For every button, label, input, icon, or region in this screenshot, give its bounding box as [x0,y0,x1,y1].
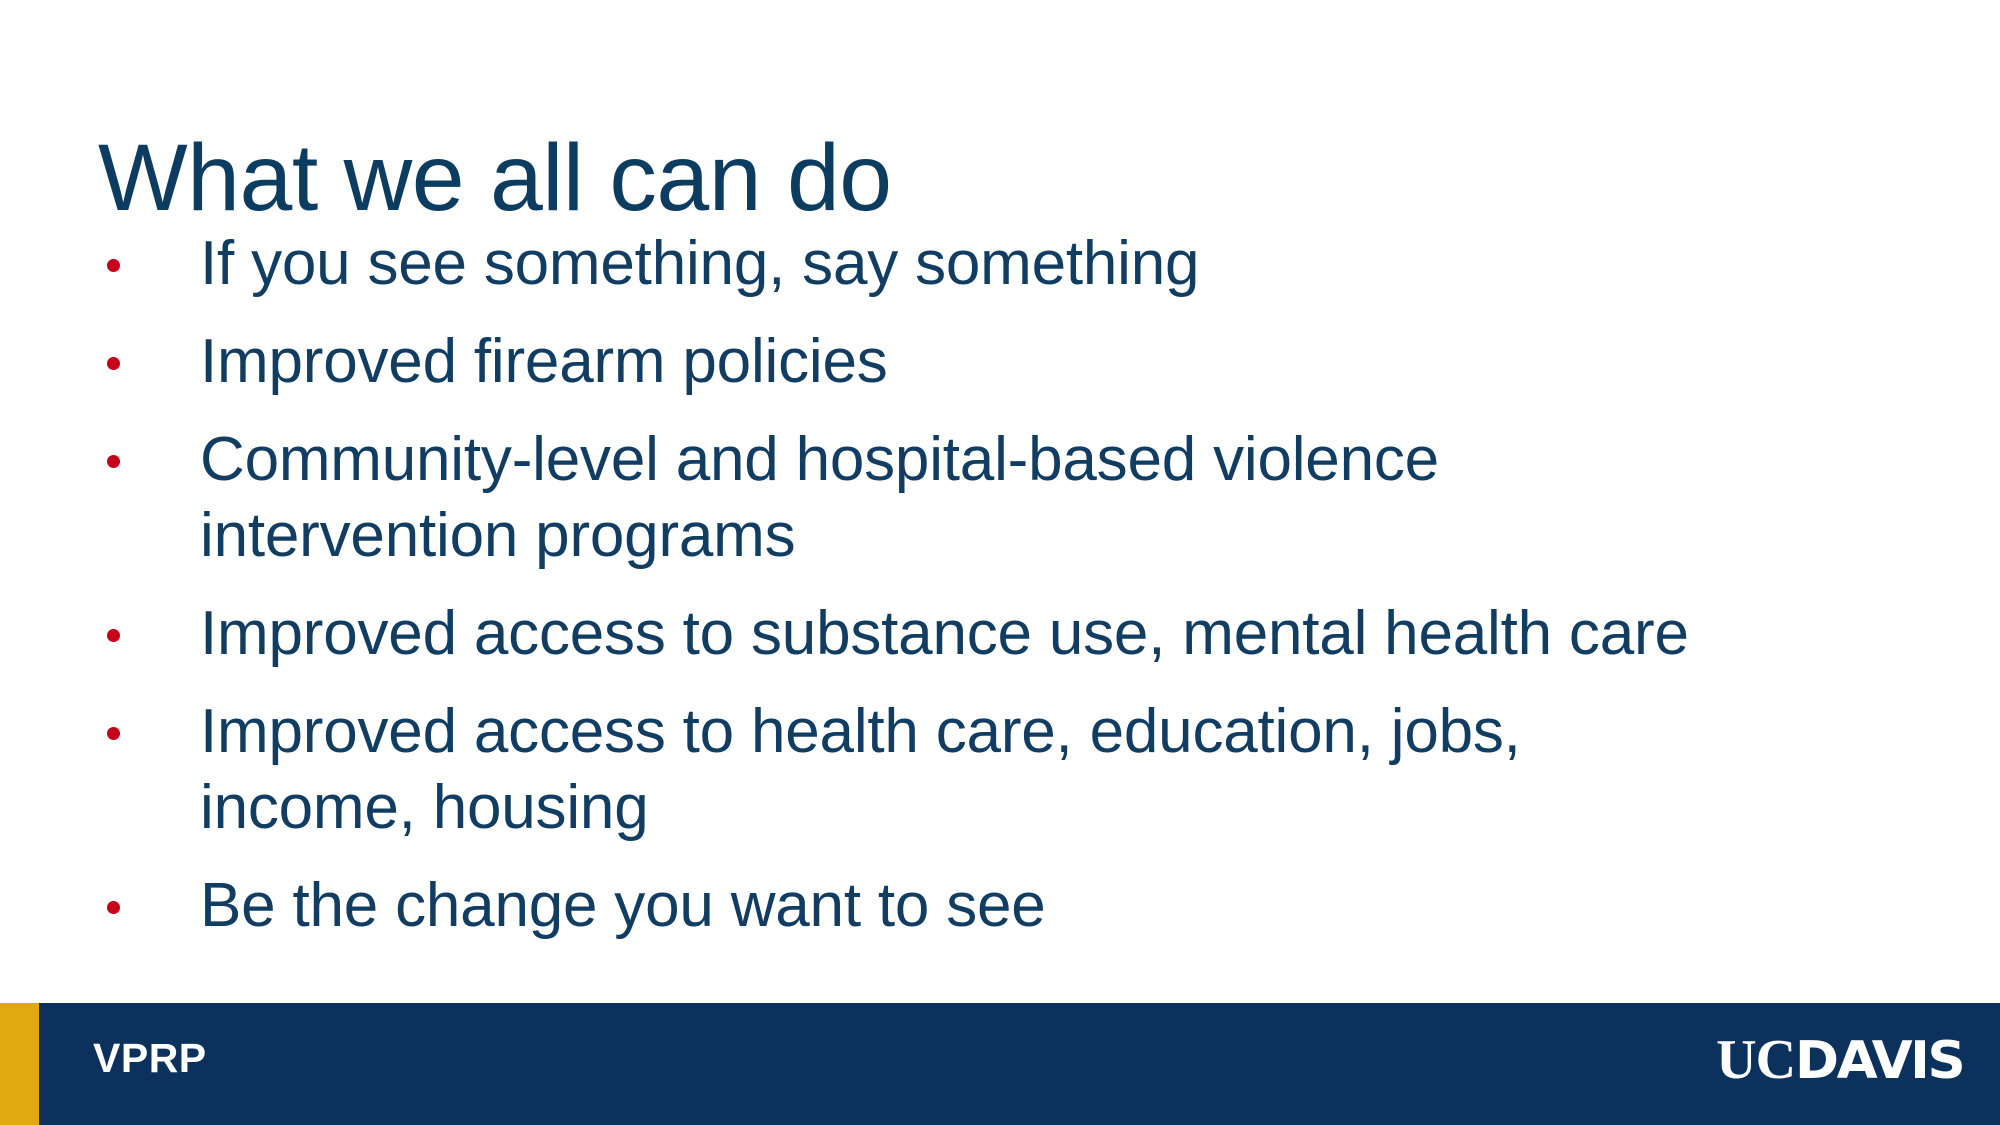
bullet-marker [100,226,200,272]
bullet-marker [100,868,200,914]
footer-label: VPRP [93,1036,207,1080]
footer-background-bar [39,1003,2000,1125]
logo-text-davis: DAVIS [1795,1035,1963,1087]
bullet-marker [100,422,200,468]
bullet-dot-icon [107,727,120,740]
list-item-line-2: intervention programs [200,498,1980,574]
list-item-text: Be the change you want to see [200,868,1980,944]
slide-footer [0,1003,2000,1125]
list-item: Improved access to health care, educatio… [100,694,1980,846]
list-item-line-2: income, housing [200,770,1980,846]
bullet-dot-icon [107,901,120,914]
bullet-list: If you see something, say something Impr… [100,226,1980,966]
list-item-line-1: If you see something, say something [200,229,1199,298]
list-item: If you see something, say something [100,226,1980,302]
bullet-marker [100,694,200,740]
list-item-text: Community-level and hospital-based viole… [200,422,1980,574]
list-item-text: Improved access to substance use, mental… [200,596,1980,672]
list-item-line-1: Improved access to health care, educatio… [200,697,1521,766]
list-item: Improved firearm policies [100,324,1980,400]
list-item-line-1: Improved access to substance use, mental… [200,599,1689,668]
list-item-line-1: Improved firearm policies [200,327,888,396]
list-item: Community-level and hospital-based viole… [100,422,1980,574]
list-item-text: If you see something, say something [200,226,1980,302]
list-item-line-1: Be the change you want to see [200,871,1046,940]
list-item: Be the change you want to see [100,868,1980,944]
bullet-marker [100,596,200,642]
uc-davis-logo: UC DAVIS [1716,1034,1960,1086]
bullet-dot-icon [107,259,120,272]
page-title: What we all can do [98,126,1858,230]
list-item: Improved access to substance use, mental… [100,596,1980,672]
footer-accent-bar [0,1003,39,1125]
bullet-marker [100,324,200,370]
list-item-text: Improved firearm policies [200,324,1980,400]
slide: What we all can do If you see something,… [0,0,2000,1125]
bullet-dot-icon [107,455,120,468]
bullet-dot-icon [107,629,120,642]
list-item-text: Improved access to health care, educatio… [200,694,1980,846]
list-item-line-1: Community-level and hospital-based viole… [200,425,1439,494]
bullet-dot-icon [107,357,120,370]
logo-text-uc: UC [1716,1034,1795,1086]
